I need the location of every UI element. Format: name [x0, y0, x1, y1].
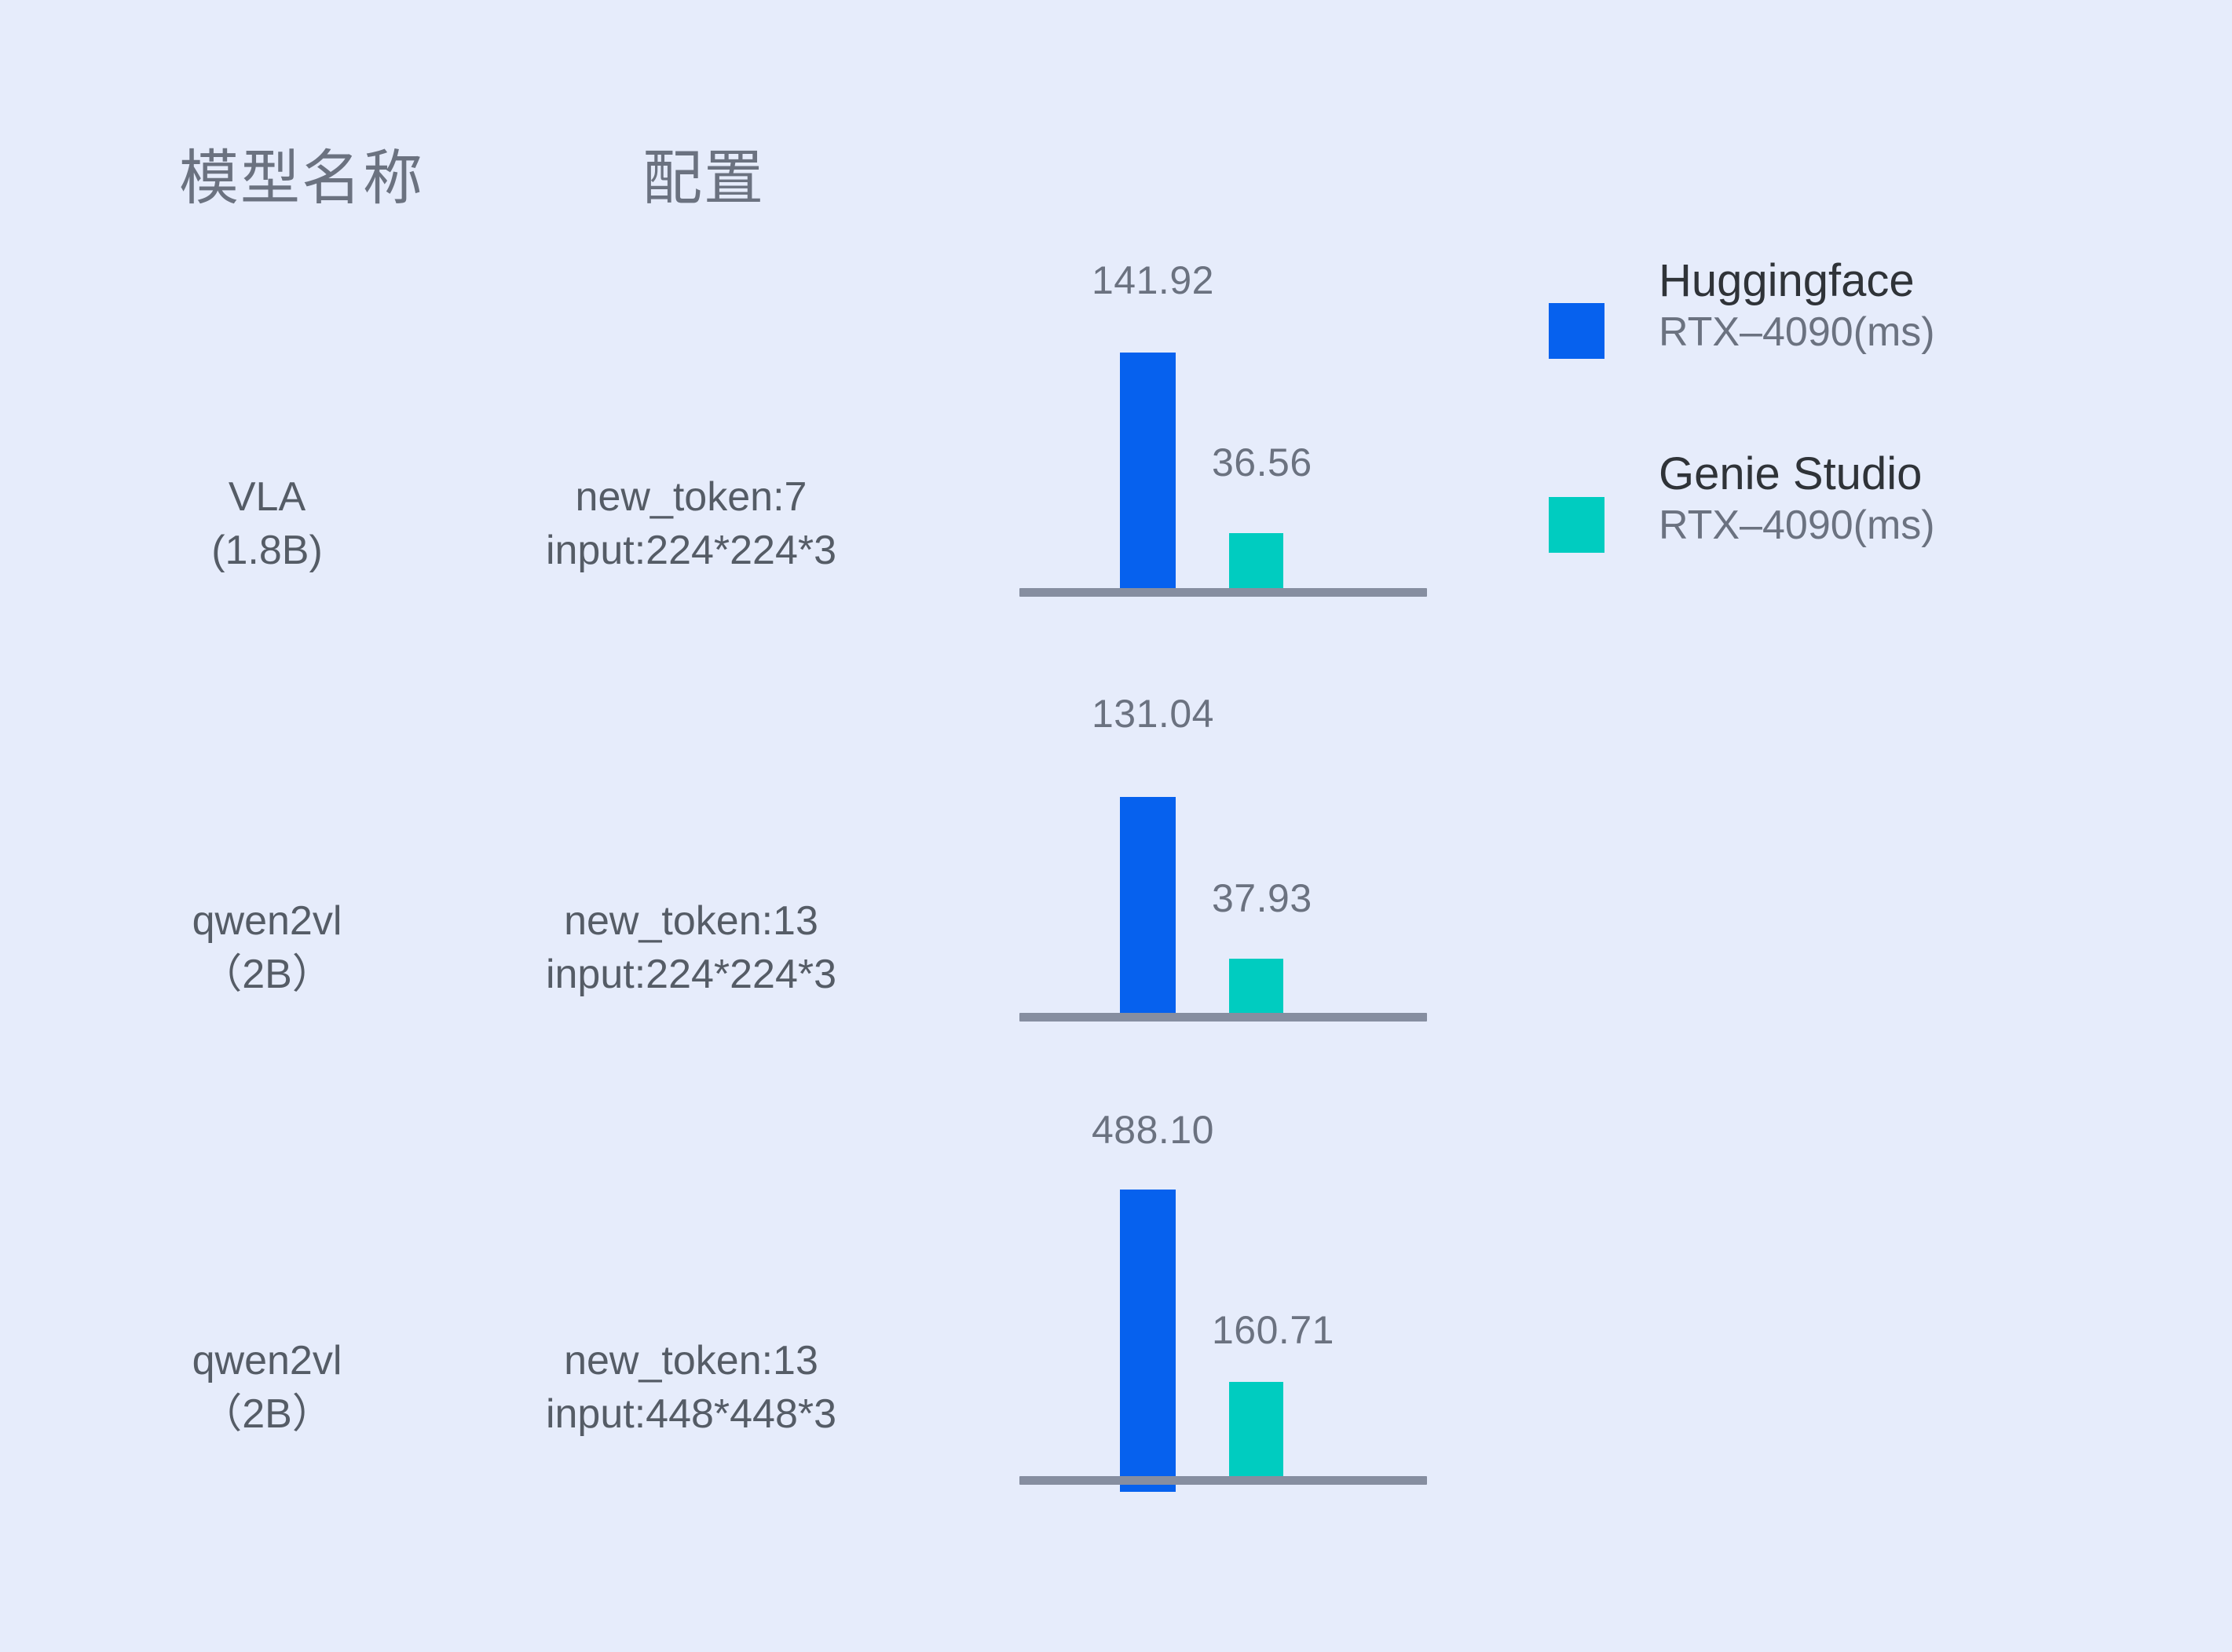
row-config-line2: input:224*224*3: [471, 524, 911, 578]
bar-value-genie-studio: 160.71: [1212, 1307, 1334, 1353]
legend-item-unit: RTX–4090(ms): [1659, 501, 2098, 550]
bar-value-huggingface: 141.92: [1092, 258, 1214, 303]
row-config-line2: input:448*448*3: [471, 1388, 911, 1442]
row-config: new_token:13 input:224*224*3: [471, 895, 911, 1001]
legend-item-unit: RTX–4090(ms): [1659, 308, 2098, 357]
row-model-name: qwen2vl （2B）: [141, 895, 393, 1001]
row-bar-chart: 488.10 160.71: [1019, 1091, 1459, 1484]
slide-root: 模型名称 配置 VLA (1.8B) new_token:7 input:224…: [0, 0, 2232, 1652]
legend-swatch-icon: [1549, 303, 1604, 359]
row-config: new_token:13 input:448*448*3: [471, 1335, 911, 1441]
column-header-config: 配置: [642, 130, 765, 216]
legend-label-group: Huggingface RTX–4090(ms): [1659, 254, 2098, 358]
chart-baseline-axis: [1019, 1013, 1427, 1022]
row-model-name-line2: （2B）: [141, 1388, 393, 1442]
bar-huggingface: [1120, 353, 1176, 593]
bar-huggingface: [1120, 797, 1176, 1020]
bar-genie-studio: [1229, 959, 1283, 1020]
legend-swatch-icon: [1549, 497, 1604, 553]
row-model-name-line2: （2B）: [141, 948, 393, 1002]
column-header-model-name: 模型名称: [179, 130, 424, 216]
bar-value-genie-studio: 36.56: [1212, 440, 1312, 485]
row-model-name-line2: (1.8B): [141, 524, 393, 578]
row-model-name-line1: qwen2vl: [141, 895, 393, 948]
row-config: new_token:7 input:224*224*3: [471, 471, 911, 577]
legend-item-title: Huggingface: [1659, 254, 2098, 308]
row-model-name-line1: qwen2vl: [141, 1335, 393, 1388]
bar-value-genie-studio: 37.93: [1212, 875, 1312, 921]
bar-genie-studio: [1229, 533, 1283, 593]
row-model-name: VLA (1.8B): [141, 471, 393, 577]
row-bar-chart: 141.92 36.56: [1019, 228, 1459, 597]
bar-value-huggingface: 131.04: [1092, 691, 1214, 736]
legend-item-title: Genie Studio: [1659, 448, 2098, 501]
row-config-line1: new_token:7: [471, 471, 911, 524]
chart-baseline-axis: [1019, 588, 1427, 597]
bar-genie-studio: [1229, 1382, 1283, 1484]
row-bar-chart: 131.04 37.93: [1019, 675, 1459, 1025]
row-model-name: qwen2vl （2B）: [141, 1335, 393, 1441]
legend-label-group: Genie Studio RTX–4090(ms): [1659, 448, 2098, 551]
row-model-name-line1: VLA: [141, 471, 393, 524]
row-config-line2: input:224*224*3: [471, 948, 911, 1002]
chart-baseline-axis: [1019, 1476, 1427, 1485]
row-config-line1: new_token:13: [471, 895, 911, 948]
row-config-line1: new_token:13: [471, 1335, 911, 1388]
bar-value-huggingface: 488.10: [1092, 1107, 1214, 1153]
bar-huggingface: [1120, 1190, 1176, 1492]
